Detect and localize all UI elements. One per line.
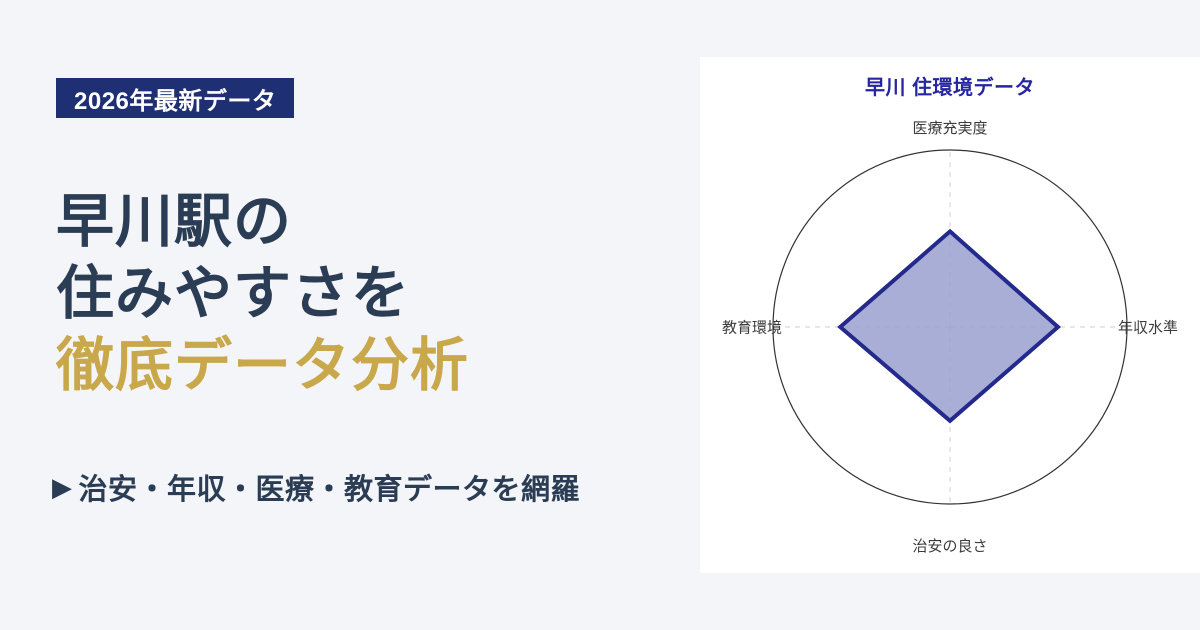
headline-line-2: 住みやすさを xyxy=(56,258,676,330)
radar-data-polygon xyxy=(840,231,1058,420)
left-content-panel: 2026年最新データ 早川駅の 住みやすさを 徹底データ分析 ▶ 治安・年収・医… xyxy=(0,0,700,630)
radar-chart-card: 早川 住環境データ 医療充実度 年収水準 治安の良さ 教育環境 xyxy=(700,57,1200,573)
radar-chart: 医療充実度 年収水準 治安の良さ 教育環境 xyxy=(700,57,1200,573)
headline-line-3: 徹底データ分析 xyxy=(56,330,676,402)
page-title: 早川駅の 住みやすさを 徹底データ分析 xyxy=(56,186,676,402)
axis-label-income: 年収水準 xyxy=(1118,317,1178,338)
latest-data-badge: 2026年最新データ xyxy=(56,78,294,118)
subtitle-text: 治安・年収・医療・教育データを網羅 xyxy=(79,466,581,508)
headline-line-1: 早川駅の xyxy=(56,186,676,258)
axis-label-education: 教育環境 xyxy=(722,317,782,338)
subtitle: ▶ 治安・年収・医療・教育データを網羅 xyxy=(52,466,580,508)
axis-label-safety: 治安の良さ xyxy=(912,535,987,556)
axis-label-medical: 医療充実度 xyxy=(912,117,987,138)
og-image-canvas: 2026年最新データ 早川駅の 住みやすさを 徹底データ分析 ▶ 治安・年収・医… xyxy=(0,0,1200,630)
triangle-right-icon: ▶ xyxy=(52,474,73,500)
